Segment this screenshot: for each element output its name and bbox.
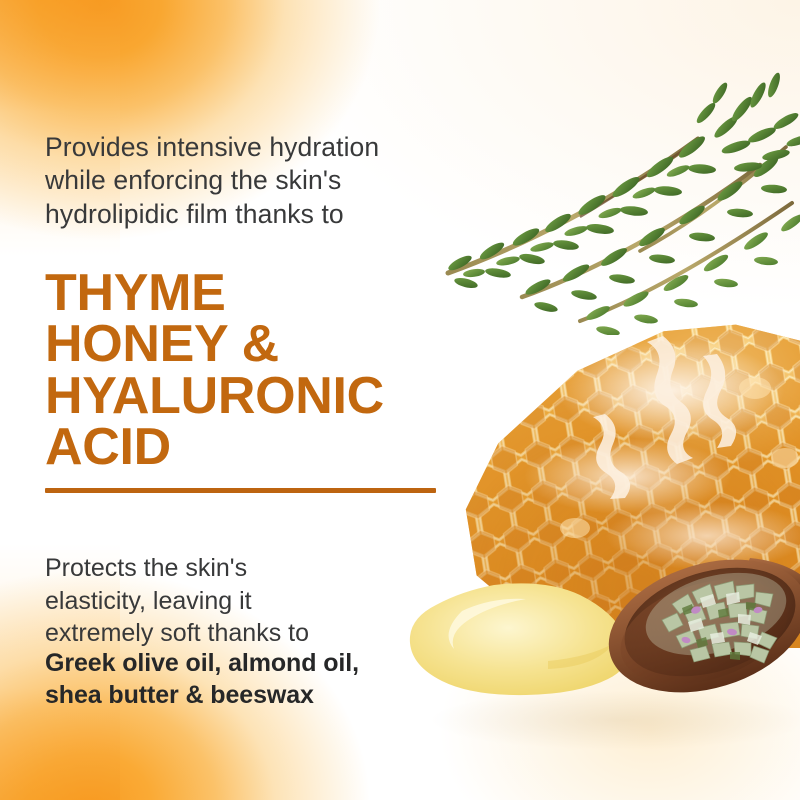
infographic-canvas: Provides intensive hydration while enfor…: [0, 0, 800, 800]
ingredients-list: Greek olive oil, almond oil, shea butter…: [45, 647, 455, 711]
thyme-sprig-icon: [430, 35, 800, 335]
body-paragraph: Protects the skin's elasticity, leaving …: [45, 552, 445, 650]
wooden-spoon-icon: [600, 548, 800, 763]
intro-paragraph: Provides intensive hydration while enfor…: [45, 131, 445, 233]
text-column: Provides intensive hydration while enfor…: [45, 0, 465, 800]
headline-ingredients: THYME HONEY & HYALURONIC ACID: [45, 268, 475, 474]
divider-rule: [45, 488, 436, 493]
